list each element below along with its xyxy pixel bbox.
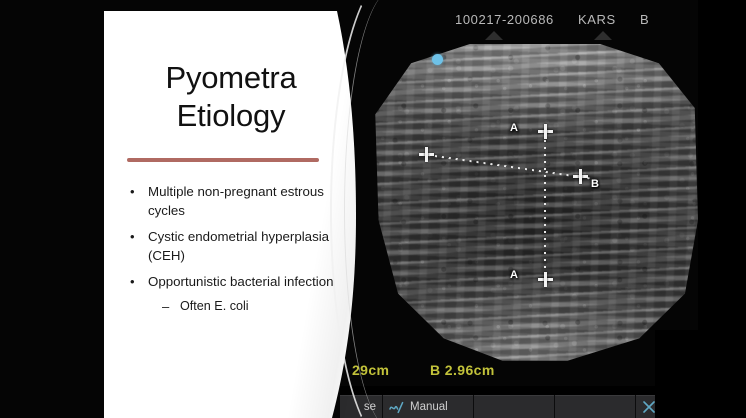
bullet-marker-sub: – — [162, 298, 169, 316]
slide-title-line-2: Etiology — [126, 97, 336, 135]
caliper-handle-a-top-icon[interactable] — [538, 124, 553, 139]
trace-curve-icon — [389, 401, 406, 414]
bullet-marker: • — [130, 183, 135, 201]
sector-caret-icon-left — [485, 31, 503, 40]
screen-capture: 100217-200686 KARS B A A B 29cm B 2.96cm — [0, 0, 746, 418]
sector-caret-icon-right — [594, 31, 612, 40]
screen-bezel-edge — [698, 0, 746, 418]
toolbar-button-empty-1[interactable] — [474, 395, 554, 418]
caliper-label-b: B — [591, 178, 599, 190]
toolbar-button-manual[interactable]: Manual — [383, 395, 473, 418]
presentation-slide-overlay: Pyometra Etiology • Multiple non-pregnan… — [104, 11, 376, 418]
toolbar-button-empty-2[interactable] — [555, 395, 635, 418]
slide-title: Pyometra Etiology — [126, 59, 336, 135]
caliper-label-a-bottom: A — [510, 269, 518, 281]
bullet-text: Multiple non-pregnant estrous cycles — [148, 184, 324, 218]
slide-bullet-list: • Multiple non-pregnant estrous cycles •… — [122, 183, 337, 323]
caliper-handle-b-right-icon[interactable] — [573, 169, 588, 184]
slide-title-divider — [127, 158, 319, 162]
caliper-handle-b-left-icon[interactable] — [419, 147, 434, 162]
speckle-noise — [372, 44, 698, 364]
slide-title-line-1: Pyometra — [126, 59, 336, 97]
list-item: • Cystic endometrial hyperplasia (CEH) — [122, 228, 337, 266]
list-item: • Opportunistic bacterial infection — [122, 273, 337, 292]
bullet-marker: • — [130, 273, 135, 291]
probe-orientation-dot-icon — [432, 54, 443, 65]
measurement-b-value: B 2.96cm — [430, 362, 495, 378]
ultrasound-toolbar: se Manual Dele — [340, 395, 655, 418]
institution-text: KARS — [578, 12, 616, 27]
list-item: • Multiple non-pregnant estrous cycles — [122, 183, 337, 221]
caliper-label-a-top: A — [510, 122, 518, 134]
presentation-slide: Pyometra Etiology • Multiple non-pregnan… — [104, 11, 376, 418]
toolbar-label-manual: Manual — [410, 401, 448, 413]
imaging-mode-text: B — [640, 12, 649, 27]
list-item-sub: – Often E. coli — [122, 298, 337, 316]
bullet-marker: • — [130, 228, 135, 246]
toolbar-button-delete[interactable]: Dele — [636, 395, 655, 418]
patient-id-text: 100217-200686 — [455, 12, 554, 27]
bullet-text-sub: Often E. coli — [180, 299, 249, 313]
bullet-text: Opportunistic bacterial infection — [148, 274, 334, 289]
ultrasound-sector-image — [372, 44, 698, 364]
close-x-icon — [642, 400, 655, 414]
caliper-axis-a-line — [544, 133, 546, 279]
caliper-handle-a-bottom-icon[interactable] — [538, 272, 553, 287]
bullet-text: Cystic endometrial hyperplasia (CEH) — [148, 229, 329, 263]
